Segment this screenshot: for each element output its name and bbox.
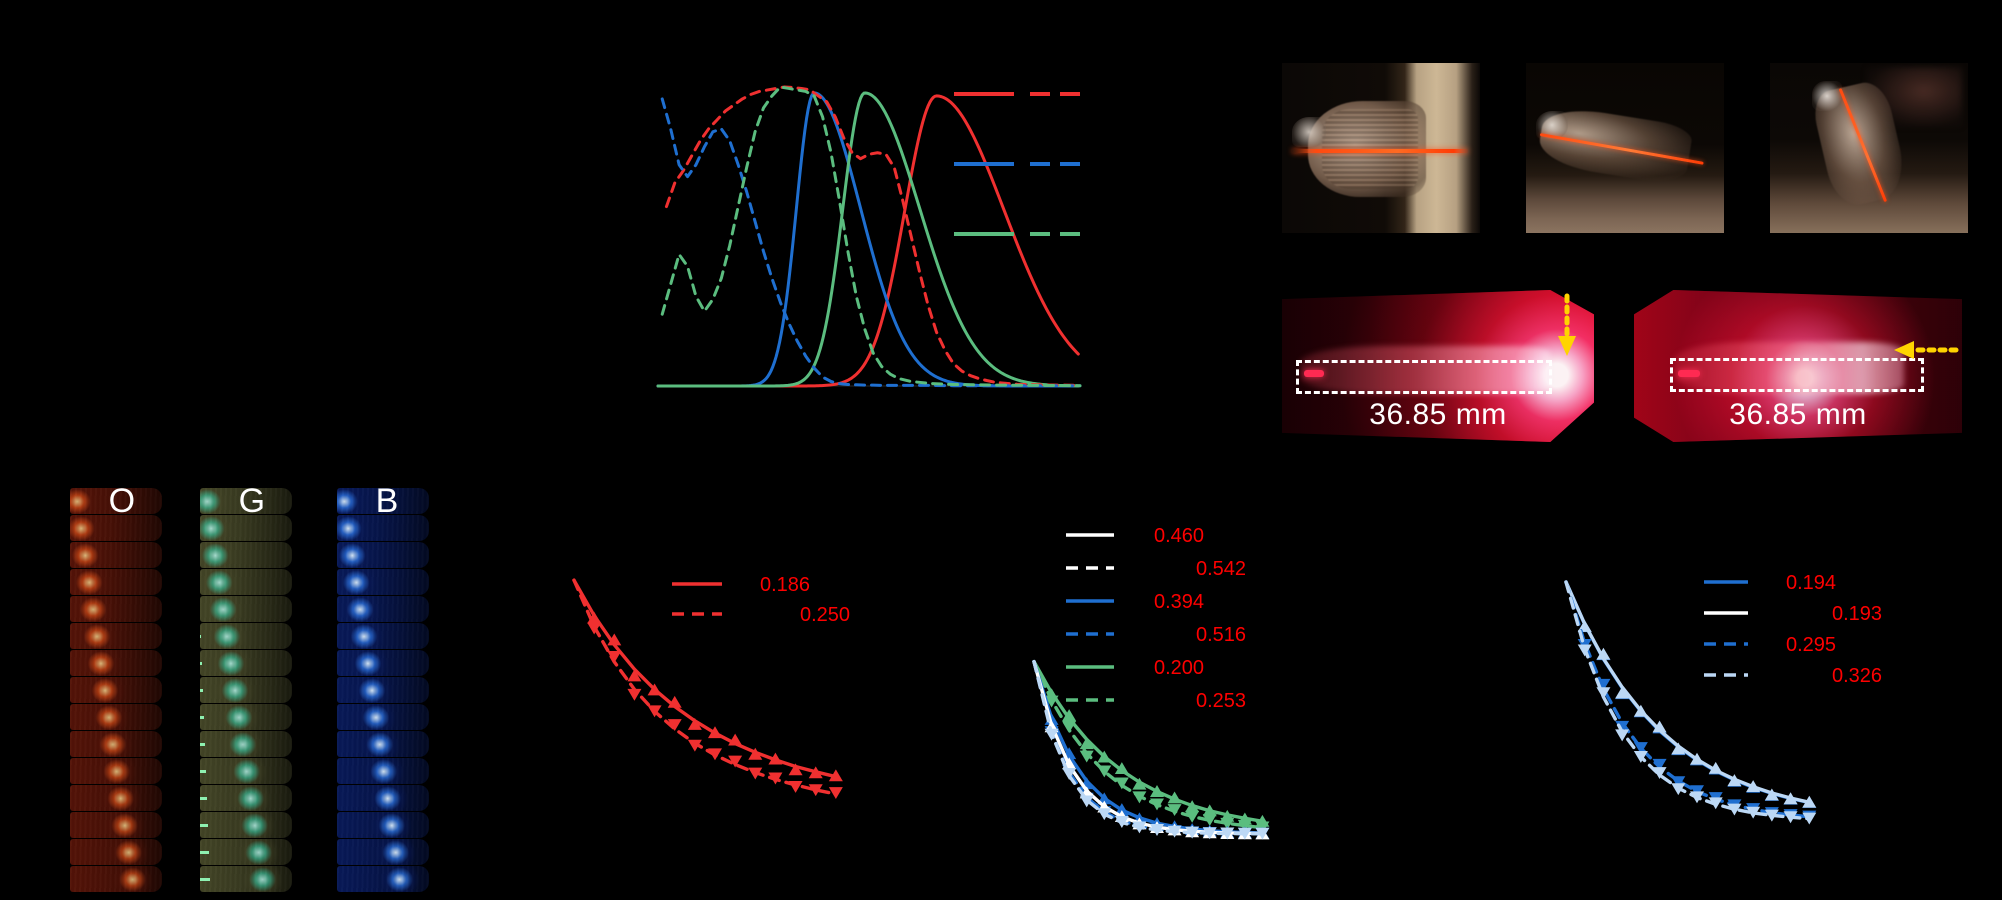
tissue-texture <box>337 623 429 649</box>
strip-row <box>70 704 162 730</box>
decay-plot-multi: 0.4600.5420.3940.5160.2000.253 <box>1020 505 1440 850</box>
data-marker <box>1690 791 1704 803</box>
data-marker <box>708 726 722 738</box>
legend-value-blue-dashed-mu: 0.516 <box>1196 624 1246 646</box>
arrow-right-icon <box>200 743 205 746</box>
tissue-photo-side-view <box>1526 63 1724 233</box>
decay-legend: 0.4600.5420.3940.5160.2000.253 <box>1066 525 1246 712</box>
strip-row <box>200 596 292 622</box>
strip-column-letter-g: G <box>239 484 265 518</box>
tissue-texture <box>70 812 162 838</box>
strip-row <box>70 650 162 676</box>
decay-curve-green-solid <box>1034 662 1262 822</box>
tissue-texture <box>200 839 292 865</box>
tissue-texture <box>200 650 292 676</box>
tissue-texture <box>70 650 162 676</box>
tissue-texture <box>337 704 429 730</box>
decay-curve-white-dashed <box>1566 582 1809 819</box>
decay-legend: 0.1860.250 <box>672 574 850 626</box>
tissue-texture <box>337 785 429 811</box>
arrow-right-icon <box>200 662 202 665</box>
decay-curve-white-dashed <box>1034 662 1262 834</box>
tissue-texture <box>70 785 162 811</box>
strip-row <box>70 569 162 595</box>
sample-photos-panel <box>1282 63 1962 233</box>
legend-value-blue-solid-mu: 0.194 <box>1786 572 1836 594</box>
strip-row <box>337 542 429 568</box>
decay-plot-red: 0.1860.250 <box>550 552 950 852</box>
decay-plot-red-panel: 0.1860.250 <box>550 552 950 852</box>
strip-row <box>337 650 429 676</box>
legend-value-white-dashed-mu: 0.542 <box>1196 558 1246 580</box>
strip-row <box>337 569 429 595</box>
strip-row <box>200 704 292 730</box>
tissue-texture <box>337 731 429 757</box>
roi-rectangle-icon <box>1670 358 1924 392</box>
strip-column-orange: O <box>70 488 162 893</box>
tissue-texture <box>70 677 162 703</box>
strip-row <box>70 758 162 784</box>
tissue-texture <box>200 677 292 703</box>
strip-row <box>70 785 162 811</box>
strip-row <box>200 812 292 838</box>
data-marker <box>1802 813 1816 825</box>
arrow-right-icon <box>200 797 207 800</box>
tissue-photo-angled-view <box>1770 63 1968 233</box>
tissue-texture <box>337 569 429 595</box>
legend-value-white-solid-mu: 0.460 <box>1154 525 1204 547</box>
legend-value-red-solid-mu: 0.186 <box>760 574 810 596</box>
decay-curve-blue-solid <box>1034 662 1262 833</box>
tissue-photo-front-view <box>1282 63 1480 233</box>
tissue-texture <box>70 731 162 757</box>
tissue-texture <box>337 596 429 622</box>
tissue-texture <box>200 785 292 811</box>
data-marker <box>627 689 641 701</box>
strip-row <box>337 758 429 784</box>
decay-curve-blue-dashed <box>1566 582 1809 817</box>
strip-row <box>337 731 429 757</box>
tissue-texture <box>200 758 292 784</box>
tissue-texture <box>337 866 429 892</box>
arrow-down-icon <box>1554 294 1580 360</box>
legend-value-white-solid-mu: 0.193 <box>1832 603 1882 625</box>
legend-value-red-dashed-mu: 0.250 <box>800 604 850 626</box>
arrow-right-icon <box>200 689 203 692</box>
tissue-texture <box>70 569 162 595</box>
strip-row <box>337 866 429 892</box>
strip-row <box>200 731 292 757</box>
strip-row <box>70 542 162 568</box>
strip-column-letter-o: O <box>109 484 135 518</box>
decay-plot-blue-panel: 0.1940.1930.2950.326 <box>1540 548 1980 848</box>
strip-row <box>200 785 292 811</box>
data-marker <box>607 651 621 663</box>
tissue-texture <box>337 650 429 676</box>
strip-row <box>200 569 292 595</box>
strip-row <box>337 812 429 838</box>
legend-value-blue-solid-mu: 0.394 <box>1154 591 1204 613</box>
tissue-texture <box>70 839 162 865</box>
strip-column-letter-b: B <box>376 484 399 518</box>
tissue-texture <box>200 866 292 892</box>
decay-curve-white-solid <box>1034 662 1262 834</box>
data-marker <box>789 781 803 793</box>
strip-row <box>70 866 162 892</box>
spectra-panel <box>640 58 1090 408</box>
tissue-texture <box>200 812 292 838</box>
data-marker <box>829 787 843 799</box>
tissue-texture <box>70 704 162 730</box>
red-image-right: 36.85 mm <box>1634 290 1962 442</box>
decay-curve-blue-dashed <box>1034 662 1262 834</box>
arrow-right-icon <box>200 635 201 638</box>
strip-row <box>70 596 162 622</box>
legend-value-white-dashed-mu: 0.326 <box>1832 665 1882 687</box>
strip-row <box>337 839 429 865</box>
strip-column-green: G <box>200 488 292 893</box>
decay-curve-green-dashed <box>1034 662 1262 828</box>
strip-column-blue: B <box>337 488 429 893</box>
strip-row <box>70 812 162 838</box>
decay-plot-multi-panel: 0.4600.5420.3940.5160.2000.253 <box>1020 505 1440 850</box>
strip-row <box>337 704 429 730</box>
tissue-texture <box>337 839 429 865</box>
arrow-right-icon <box>200 878 210 881</box>
tissue-texture <box>70 623 162 649</box>
tissue-texture <box>337 758 429 784</box>
arrow-right-icon <box>200 851 209 854</box>
data-marker <box>1150 785 1164 797</box>
legend-value-green-solid-mu: 0.200 <box>1154 657 1204 679</box>
strip-row <box>200 623 292 649</box>
tissue-texture <box>200 596 292 622</box>
tissue-texture <box>337 677 429 703</box>
legend-value-green-dashed-mu: 0.253 <box>1196 690 1246 712</box>
tissue-texture <box>337 542 429 568</box>
tissue-texture <box>337 812 429 838</box>
data-marker <box>708 748 722 760</box>
red-transillumination-panel: 36.85 mm 36.85 mm <box>1282 290 1962 450</box>
strip-row <box>70 677 162 703</box>
strip-row <box>70 731 162 757</box>
tissue-texture <box>200 704 292 730</box>
strip-row <box>200 839 292 865</box>
strip-row <box>200 866 292 892</box>
red-image-left: 36.85 mm <box>1282 290 1594 442</box>
tissue-texture <box>70 596 162 622</box>
strip-row <box>337 596 429 622</box>
tissue-texture <box>70 542 162 568</box>
roi-rectangle-icon <box>1296 360 1552 394</box>
ogb-strip-panel: OGB <box>70 488 460 900</box>
strip-row <box>337 785 429 811</box>
spectra-curve-red-sensitivity <box>666 87 1080 385</box>
decay-curve-red-solid <box>574 580 836 777</box>
spectra-chart <box>640 58 1090 408</box>
scale-label-right: 36.85 mm <box>1634 398 1962 432</box>
arrow-right-icon <box>200 770 206 773</box>
legend-value-blue-dashed-mu: 0.295 <box>1786 634 1836 656</box>
tissue-texture <box>70 866 162 892</box>
tissue-texture <box>200 542 292 568</box>
decay-curve-red-dashed <box>574 580 836 794</box>
arrow-right-icon <box>200 716 204 719</box>
tissue-texture <box>200 623 292 649</box>
strip-row <box>70 839 162 865</box>
tissue-texture <box>70 758 162 784</box>
strip-row <box>70 623 162 649</box>
data-marker <box>1150 798 1164 810</box>
strip-row <box>200 650 292 676</box>
strip-row <box>337 677 429 703</box>
decay-plot-blue: 0.1940.1930.2950.326 <box>1540 548 1980 848</box>
arrow-right-icon <box>200 824 208 827</box>
tissue-texture <box>200 569 292 595</box>
strip-row <box>200 542 292 568</box>
arrow-left-icon <box>1882 338 1958 362</box>
laser-line <box>1292 149 1468 153</box>
strip-row <box>200 677 292 703</box>
scale-label-left: 36.85 mm <box>1282 398 1594 432</box>
decay-legend: 0.1940.1930.2950.326 <box>1704 572 1882 687</box>
strip-row <box>200 758 292 784</box>
data-marker <box>1185 811 1199 823</box>
tissue-texture <box>200 731 292 757</box>
strip-row <box>337 623 429 649</box>
